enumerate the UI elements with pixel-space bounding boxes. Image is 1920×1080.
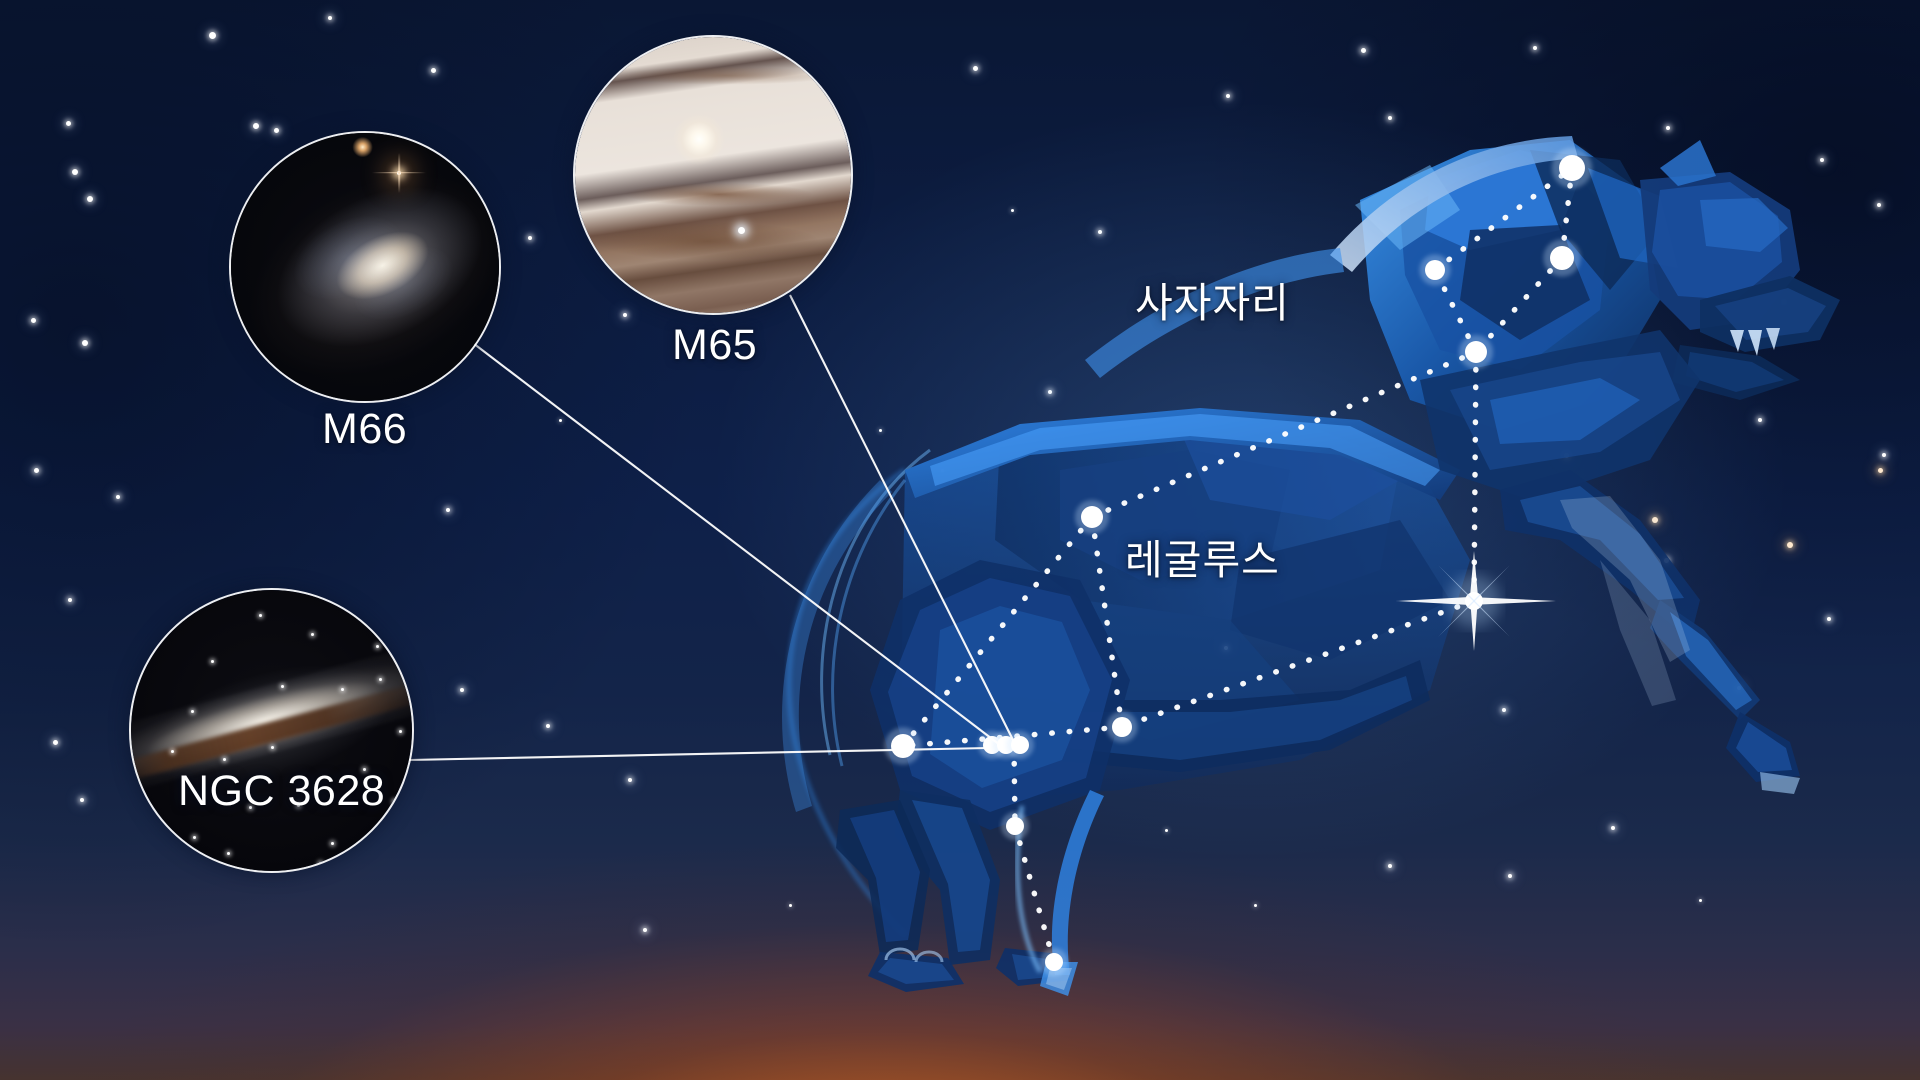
field-star bbox=[341, 688, 344, 691]
field-star bbox=[191, 710, 194, 713]
field-star bbox=[379, 678, 382, 681]
field-star bbox=[319, 862, 322, 865]
field-star bbox=[227, 852, 230, 855]
constellation-name-label: 사자자리 bbox=[1135, 269, 1290, 329]
field-star bbox=[171, 750, 174, 753]
field-star bbox=[281, 685, 284, 688]
galaxy-dust-bands-m65 bbox=[575, 37, 851, 313]
field-star bbox=[393, 800, 396, 803]
field-star bbox=[211, 660, 214, 663]
regulus-star-label: 레굴루스 bbox=[1125, 526, 1280, 586]
leader-line-m65 bbox=[790, 295, 1014, 742]
field-star bbox=[376, 645, 379, 648]
field-star bbox=[331, 842, 334, 845]
callout-circle-m66[interactable] bbox=[229, 131, 501, 403]
field-star bbox=[223, 758, 226, 761]
field-star bbox=[193, 836, 196, 839]
galaxy-image-ngc3628 bbox=[131, 590, 412, 871]
callout-label-m65: M65 bbox=[672, 321, 757, 370]
foreground-star-m66 bbox=[397, 171, 401, 175]
infographic-canvas: M66 M65 NGC 3628 사자자리 레굴루스 bbox=[0, 0, 1920, 1080]
callout-circle-ngc3628[interactable] bbox=[129, 588, 414, 873]
field-star bbox=[271, 746, 274, 749]
leader-line-m66 bbox=[469, 340, 1000, 745]
callout-circle-m65[interactable] bbox=[573, 35, 853, 315]
callout-label-m66: M66 bbox=[322, 405, 407, 454]
callout-label-ngc3628: NGC 3628 bbox=[178, 767, 385, 816]
field-star bbox=[311, 633, 314, 636]
leader-line-ngc3628 bbox=[409, 748, 988, 760]
field-star bbox=[259, 614, 262, 617]
field-star bbox=[399, 730, 402, 733]
